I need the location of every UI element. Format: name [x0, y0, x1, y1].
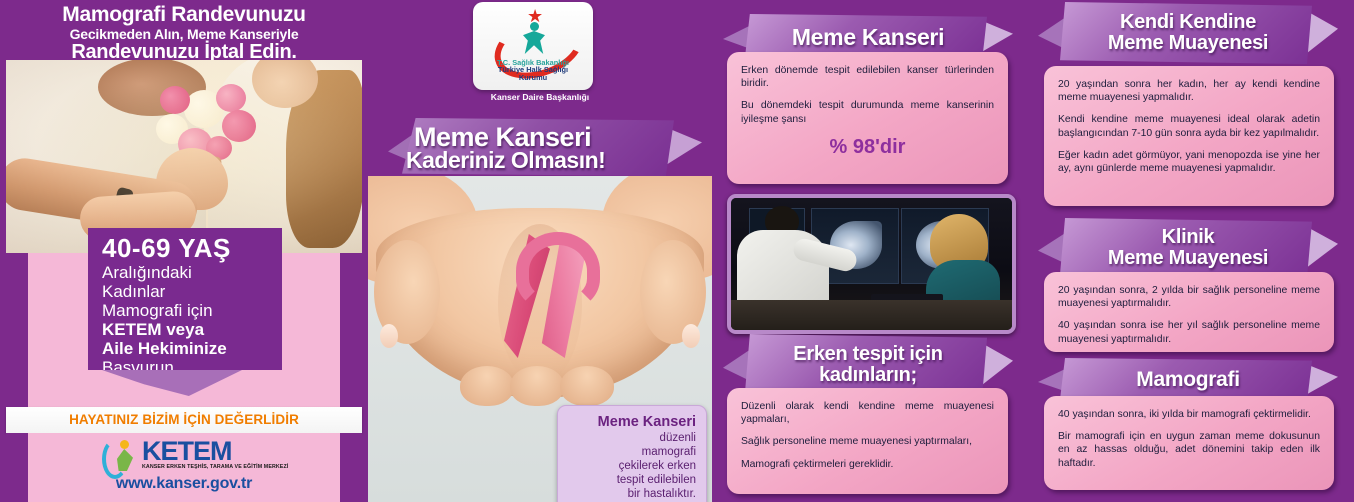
card-title-line-1: Mamografi: [1136, 369, 1239, 391]
age-line-2: Aralığındaki: [102, 263, 274, 282]
small-box-line-4: tespit edilebilen: [617, 474, 696, 486]
card-paragraph: 20 yaşından sonra her kadın, her ay kend…: [1058, 78, 1320, 104]
person-icon: [521, 22, 547, 54]
breast-cancer-awareness-poster: Mamografi Randevunuzu Gecikmeden Alın, M…: [0, 0, 1354, 502]
headline-line-1: Mamografi Randevunuzu: [0, 3, 368, 27]
small-box-heading: Meme Kanseri: [598, 414, 696, 430]
card-highlight-percentage: % 98'dir: [741, 136, 994, 159]
photo-finger: [560, 366, 614, 406]
card-paragraph: Kendi kendine meme muayenesi ideal olara…: [1058, 113, 1320, 139]
card-body-kendi-kendine: 20 yaşından sonra her kadın, her ay kend…: [1044, 66, 1334, 206]
left-panel: Mamografi Randevunuzu Gecikmeden Alın, M…: [0, 0, 368, 502]
slogan-band: HAYATINIZ BİZİM İÇİN DEĞERLİDİR: [6, 407, 362, 433]
left-headline: Mamografi Randevunuzu Gecikmeden Alın, M…: [0, 0, 368, 60]
card-body-klinik: 20 yaşından sonra, 2 yılda bir sağlık pe…: [1044, 272, 1334, 352]
ketem-subtitle: KANSER ERKEN TEŞHİS, TARAMA VE EĞİTİM ME…: [142, 464, 288, 470]
age-callout-box: 40-69 YAŞ Aralığındaki Kadınlar Mamograf…: [88, 228, 282, 370]
card-paragraph: Erken dönemde tespit edilebilen kanser t…: [741, 64, 994, 90]
card-title-line-2: kadınların;: [819, 365, 917, 386]
card-paragraph: Eğer kadın adet görmüyor, yani menopozda…: [1058, 149, 1320, 175]
left-footer: KETEM KANSER ERKEN TEŞHİS, TARAMA VE EĞİ…: [6, 433, 362, 502]
card-body-meme-kanseri: Erken dönemde tespit edilebilen kanser t…: [727, 52, 1008, 184]
card-title-line-1: Klinik: [1162, 227, 1215, 248]
pink-ribbon-icon: [504, 234, 586, 358]
card-paragraph: Düzenli olarak kendi kendine meme muayen…: [741, 400, 994, 426]
slogan-text: HAYATINIZ BİZİM İÇİN DEĞERLİDİR: [6, 407, 362, 433]
card-body-erken-tespit: Düzenli olarak kendi kendine meme muayen…: [727, 388, 1008, 494]
card-header-erken-tespit: Erken tespit için kadınların;: [723, 334, 1013, 396]
photo-desk: [731, 300, 1012, 330]
ketem-website-url[interactable]: www.kanser.gov.tr: [6, 475, 362, 493]
center-title-ribbon: Meme Kanseri Kaderiniz Olmasın!: [388, 118, 688, 176]
small-box-line-2: mamografi: [642, 446, 696, 458]
small-box-line-5: bir hastalıktır.: [628, 488, 696, 500]
photo-finger: [510, 366, 564, 406]
ketem-figure-icon: [102, 439, 136, 471]
card-paragraph: Bir mamografi için en uygun zaman meme d…: [1058, 430, 1320, 470]
small-box-line-1: düzenli: [660, 432, 696, 444]
card-paragraph: 40 yaşından sonra, iki yılda bir mamogra…: [1058, 408, 1320, 421]
age-line-4: Mamografi için: [102, 301, 274, 320]
card-title-line-2: Meme Muayenesi: [1108, 33, 1268, 54]
small-box-line-3: çekilerek erken: [619, 460, 696, 472]
ministry-caption: Kanser Daire Başkanlığı: [368, 92, 712, 102]
small-info-box: Meme Kanseri düzenli mamografi çekilerek…: [557, 405, 707, 502]
card-paragraph: Mamografi çektirmeleri gereklidir.: [741, 458, 994, 471]
mammogram-review-photo: [727, 194, 1016, 334]
card-paragraph: Bu dönemdeki tespit durumunda meme kanse…: [741, 99, 994, 125]
card-body-mamografi: 40 yaşından sonra, iki yılda bir mamogra…: [1044, 396, 1334, 490]
age-line-6: Aile Hekiminize: [102, 339, 274, 358]
photo-nail-left: [380, 324, 398, 348]
headline-line-2: Gecikmeden Alın, Meme Kanseriyle: [0, 26, 368, 42]
photo-nail-right: [682, 324, 700, 348]
card-header-klinik: Klinik Meme Muayenesi: [1038, 218, 1338, 278]
ministry-of-health-logo: ★ T.C. Sağlık Bakanlığı Türkiye Halk Sağ…: [473, 2, 593, 90]
card-paragraph: 40 yaşından sonra ise her yıl sağlık per…: [1058, 319, 1320, 345]
card-paragraph: 20 yaşından sonra, 2 yılda bir sağlık pe…: [1058, 284, 1320, 310]
age-line-3: Kadınlar: [102, 282, 274, 301]
card-title-line-2: Meme Muayenesi: [1108, 248, 1268, 269]
center-title-line-2: Kaderiniz Olmasın!: [406, 147, 605, 174]
ketem-wordmark: KETEM: [142, 437, 232, 465]
ketem-logo: KETEM KANSER ERKEN TEŞHİS, TARAMA VE EĞİ…: [102, 437, 292, 473]
ministry-line-3: Kurumu: [473, 74, 593, 82]
age-line-1: 40-69 YAŞ: [102, 234, 274, 263]
age-line-5: KETEM veya: [102, 320, 274, 339]
card-paragraph: Sağlık personeline meme muayenesi yaptır…: [741, 435, 994, 448]
card-header-kendi-kendine: Kendi Kendine Meme Muayenesi: [1038, 2, 1338, 64]
photo-finger: [460, 366, 514, 406]
photo-warm-overlay: [6, 60, 362, 253]
couple-photo: [6, 60, 362, 253]
card-title-line-1: Kendi Kendine: [1120, 12, 1256, 33]
card-title-line-1: Erken tespit için: [793, 344, 942, 365]
card-title-line-1: Meme Kanseri: [792, 25, 944, 49]
